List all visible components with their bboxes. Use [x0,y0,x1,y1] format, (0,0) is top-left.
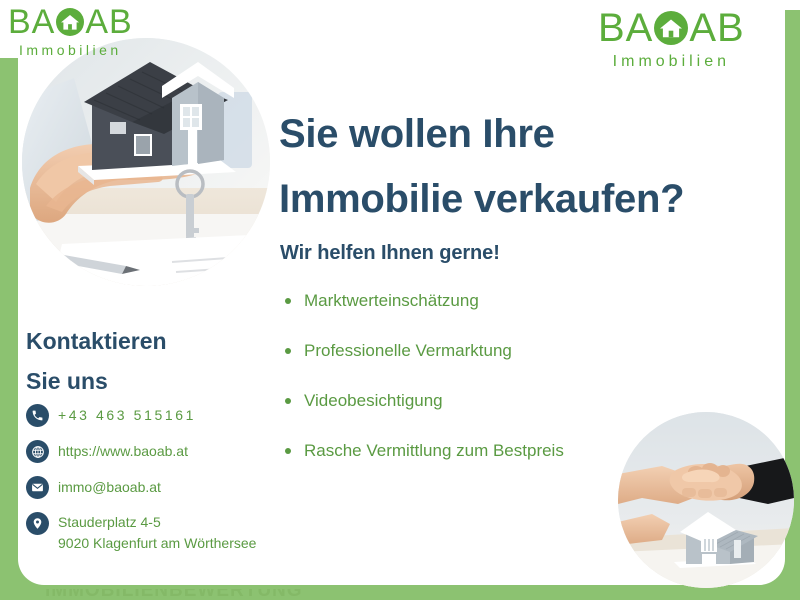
house-icon [56,8,84,36]
contact-heading-line-1: Kontaktieren [26,322,256,362]
list-item: Professionelle Vermarktung [282,342,752,359]
phone-icon [26,404,49,427]
envelope-icon [26,476,49,499]
logo-text-part1: BA [598,8,653,48]
logo-text-part1: BA [8,5,55,39]
globe-icon [26,440,49,463]
logo-top-left: BA AB Immobilien [8,5,133,57]
logo-top-right: BA AB Immobilien [598,8,745,70]
logo-text-part2: AB [689,8,744,48]
headline-line-1: Sie wollen Ihre [279,102,779,167]
contact-list: +43 463 515161 https://www.baoab.at [26,404,326,567]
list-item: Videobesichtigung [282,392,752,409]
contact-address-value: Stauderplatz 4-5 9020 Klagenfurt am Wört… [58,512,256,554]
page-title: Sie wollen Ihre Immobilie verkaufen? [279,102,779,232]
contact-email[interactable]: immo@baoab.at [26,476,326,499]
contact-address[interactable]: Stauderplatz 4-5 9020 Klagenfurt am Wört… [26,512,326,554]
headline-subtitle: Wir helfen Ihnen gerne! [280,242,500,265]
handshake-photo [618,412,794,588]
address-line-2: 9020 Klagenfurt am Wörthersee [58,535,256,551]
contact-heading: Kontaktieren Sie uns [26,322,256,401]
house-icon [654,11,688,45]
contact-website[interactable]: https://www.baoab.at [26,440,326,463]
bottom-cut-text: IMMOBILIENBEWERTUNG [45,589,375,600]
real-estate-flyer: BA AB Immobilien BA AB Immobilien [0,0,800,600]
logo-text-part2: AB [85,5,132,39]
hand-holding-house-photo [22,38,270,286]
logo-tagline: Immobilien [613,54,730,70]
contact-heading-line-2: Sie uns [26,362,256,402]
headline-line-2: Immobilie verkaufen? [279,167,779,232]
logo-tagline: Immobilien [19,43,122,57]
logo-wordmark: BA AB [598,8,745,48]
address-line-1: Stauderplatz 4-5 [58,514,161,530]
contact-phone[interactable]: +43 463 515161 [26,404,326,427]
list-item: Marktwerteinschätzung [282,292,752,309]
contact-email-value: immo@baoab.at [58,476,161,499]
contact-website-value: https://www.baoab.at [58,440,188,463]
location-pin-icon [26,512,49,535]
contact-phone-value: +43 463 515161 [58,404,196,427]
logo-wordmark: BA AB [8,5,133,39]
